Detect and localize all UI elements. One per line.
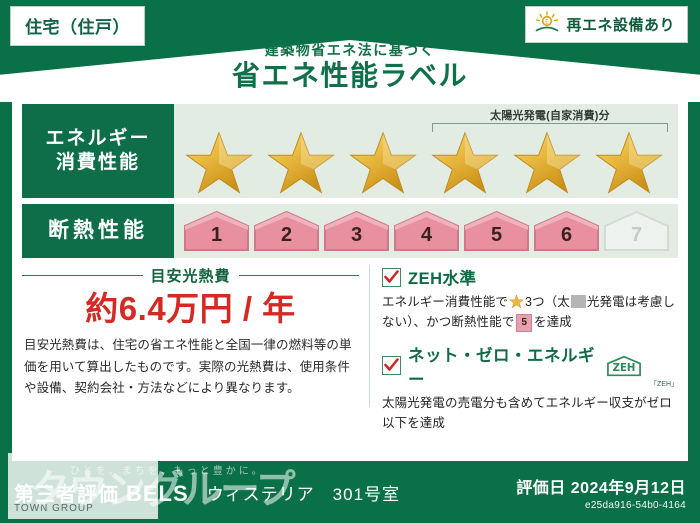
checkbox-checked-icon bbox=[382, 356, 401, 375]
star-icon bbox=[510, 130, 584, 196]
star-rating bbox=[174, 130, 674, 196]
star-icon bbox=[509, 294, 524, 309]
insulation-levels: 1 2 3 bbox=[174, 204, 678, 258]
renewable-equipment-badge: E 再エネ設備あり bbox=[525, 6, 688, 43]
insulation-performance-label: 断熱性能 bbox=[22, 204, 174, 258]
bels-mark: 第三者評価 BELS bbox=[14, 478, 189, 507]
energy-performance-body: 太陽光発電(自家消費)分 bbox=[174, 104, 678, 198]
star-icon bbox=[182, 130, 256, 196]
footer: 第三者評価 BELS ウィステリア 301号室 評価日 2024年9月12日 e… bbox=[0, 461, 700, 523]
bels-jp-label: 第三者評価 bbox=[14, 478, 119, 507]
evaluation-id: e25da916-54b0-4164 bbox=[516, 500, 686, 511]
zeh-logo-caption: 「ZEH」 bbox=[650, 379, 678, 390]
svg-text:E: E bbox=[546, 19, 550, 26]
sun-icon: E bbox=[534, 11, 560, 38]
bels-en-label: BELS bbox=[126, 481, 189, 507]
svg-text:ZEH: ZEH bbox=[613, 363, 636, 374]
claim-zeh-standard-head: ZEH水準 bbox=[382, 265, 678, 289]
claim-zeh-standard: ZEH水準 エネルギー消費性能で 3つ（太光発電は考慮しない）、かつ断熱性能で5… bbox=[382, 265, 678, 333]
energy-label-root: 住宅（住戸） E 再エネ設備あり 建築物 bbox=[0, 0, 700, 523]
content-card: エネルギー 消費性能 太陽光発電(自家消費)分 bbox=[12, 96, 688, 461]
energy-label-line2: 消費性能 bbox=[56, 151, 140, 175]
insulation-level-badge: 3 bbox=[323, 210, 390, 252]
utility-cost-heading: 目安光熱費 bbox=[22, 265, 359, 286]
claim-net-zero-energy: ネット・ゼロ・エネルギー ZEH 「ZEH」 太陽光発電の売電分も含めてエネルギ… bbox=[382, 342, 678, 434]
claim-net-zero-energy-title: ネット・ゼロ・エネルギー bbox=[408, 342, 598, 390]
star-icon bbox=[264, 130, 338, 196]
insulation-level-badge: 6 bbox=[533, 210, 600, 252]
energy-performance-row: エネルギー 消費性能 太陽光発電(自家消費)分 bbox=[22, 104, 678, 198]
star-icon bbox=[428, 130, 502, 196]
lower-section: 目安光熱費 約6.4万円 / 年 目安光熱費は、住宅の省エネ性能と全国一律の燃料… bbox=[22, 265, 678, 407]
utility-cost-note: 目安光熱費は、住宅の省エネ性能と全国一律の燃料等の単価を用いて算出したものです。… bbox=[22, 335, 359, 400]
claim-text-pre: エネルギー消費性能で bbox=[382, 295, 508, 309]
utility-cost-panel: 目安光熱費 約6.4万円 / 年 目安光熱費は、住宅の省エネ性能と全国一律の燃料… bbox=[22, 265, 370, 407]
utility-cost-value: 約6.4万円 / 年 bbox=[22, 288, 359, 329]
insulation-level-badge-inactive: 7 bbox=[603, 210, 670, 252]
insulation-level-badge: 2 bbox=[253, 210, 320, 252]
solar-bracket-label: 太陽光発電(自家消費)分 bbox=[430, 107, 670, 123]
insulation-performance-row: 断熱性能 1 2 bbox=[22, 204, 678, 258]
claims-panel: ZEH水準 エネルギー消費性能で 3つ（太光発電は考慮しない）、かつ断熱性能で5… bbox=[370, 265, 678, 407]
page-title: 省エネ性能ラベル bbox=[0, 61, 700, 90]
star-icon bbox=[592, 130, 666, 196]
insulation-level-value: 4 bbox=[421, 225, 432, 252]
room-name: ウィステリア 301号室 bbox=[207, 480, 517, 505]
insulation-level-value: 5 bbox=[491, 225, 502, 252]
insulation-level-badge: 1 bbox=[183, 210, 250, 252]
renewable-badge-label: 再エネ設備あり bbox=[566, 14, 675, 35]
rule-right bbox=[239, 275, 360, 276]
claim-zeh-standard-title: ZEH水準 bbox=[408, 265, 477, 289]
insulation-level-value: 6 bbox=[561, 225, 572, 252]
rule-left bbox=[22, 275, 143, 276]
zeh-house-logo-icon: ZEH bbox=[605, 355, 643, 377]
checkbox-checked-icon bbox=[382, 268, 401, 287]
header: 住宅（住戸） E 再エネ設備あり 建築物 bbox=[0, 0, 700, 100]
claim-net-zero-energy-head: ネット・ゼロ・エネルギー ZEH 「ZEH」 bbox=[382, 342, 678, 390]
claim-net-zero-energy-body: 太陽光発電の売電分も含めてエネルギー収支がゼロ以下を達成 bbox=[382, 393, 678, 434]
insulation-level-value: 1 bbox=[211, 225, 222, 252]
claim-text-end: を達成 bbox=[534, 315, 572, 329]
claim-text-mid: 3つ（太 bbox=[525, 295, 570, 309]
energy-label-line1: エネルギー bbox=[45, 127, 150, 151]
insulation-level-value: 7 bbox=[631, 225, 642, 252]
energy-performance-label: エネルギー 消費性能 bbox=[22, 104, 174, 198]
claim-zeh-standard-body: エネルギー消費性能で 3つ（太光発電は考慮しない）、かつ断熱性能で5を達成 bbox=[382, 292, 678, 333]
star-icon bbox=[346, 130, 420, 196]
insulation-level-value: 3 bbox=[351, 225, 362, 252]
title-block: 建築物省エネ法に基づく 省エネ性能ラベル bbox=[0, 40, 700, 90]
title-subtitle: 建築物省エネ法に基づく bbox=[0, 40, 700, 60]
insulation-level-value: 2 bbox=[281, 225, 292, 252]
evaluation-info: 評価日 2024年9月12日 e25da916-54b0-4164 bbox=[516, 474, 686, 511]
insulation-level-badge: 4 bbox=[393, 210, 460, 252]
redaction-block bbox=[571, 295, 586, 308]
insulation-level-inline-badge: 5 bbox=[516, 314, 532, 332]
evaluation-date: 評価日 2024年9月12日 bbox=[516, 474, 686, 498]
insulation-level-badge: 5 bbox=[463, 210, 530, 252]
utility-cost-title: 目安光熱費 bbox=[151, 265, 231, 286]
